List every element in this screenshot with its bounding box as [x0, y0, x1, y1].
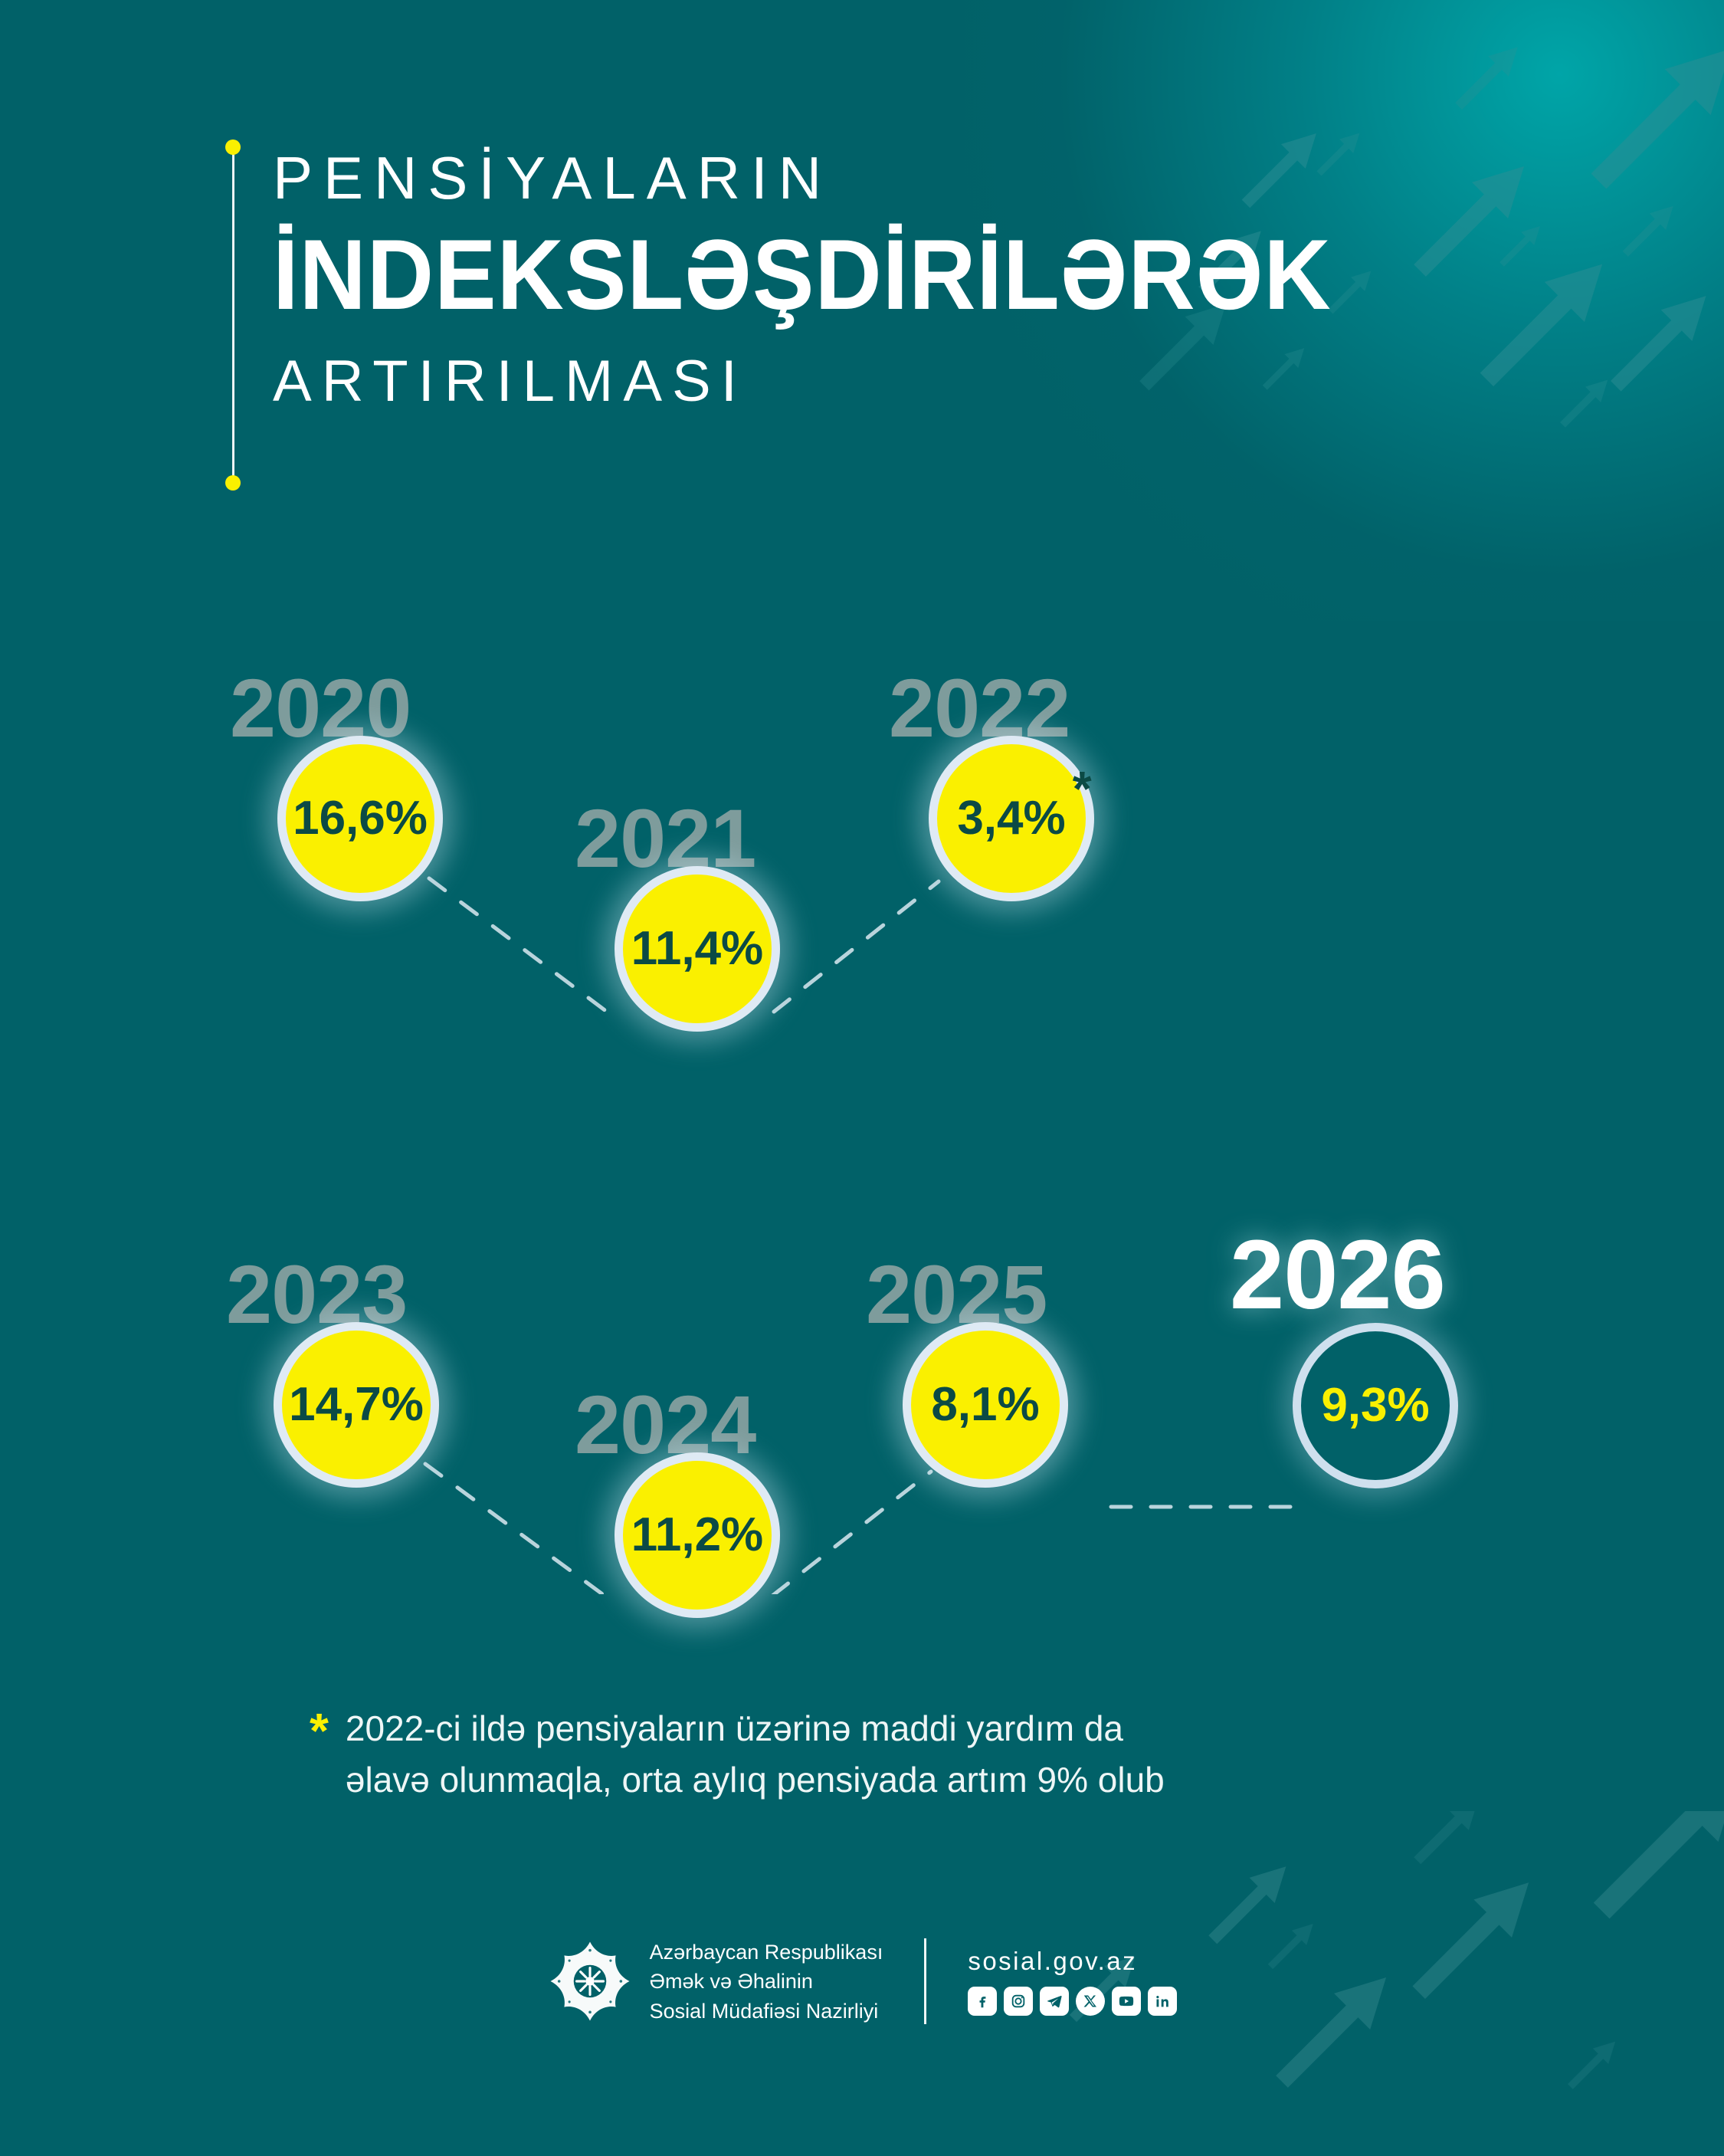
value-text-2022: 3,4% *	[957, 795, 1065, 842]
value-bubble-2022: 3,4% *	[929, 736, 1094, 901]
ministry-block: Azərbaycan Respublikası Əmək və Əhalinin…	[547, 1938, 883, 2026]
value-text-2020: 16,6%	[293, 795, 428, 842]
footnote-text: 2022-ci ildə pensiyaların üzərinə maddi …	[346, 1703, 1165, 1806]
footnote-line-1: 2022-ci ildə pensiyaların üzərinə maddi …	[346, 1703, 1165, 1754]
value-text-2026: 9,3%	[1321, 1382, 1429, 1429]
value-bubble-2021: 11,4%	[615, 866, 780, 1032]
facebook-icon[interactable]	[968, 1987, 997, 2016]
connector-2023-2024	[425, 1464, 613, 1594]
connector-2024-2025	[772, 1472, 931, 1594]
footer-divider	[924, 1938, 926, 2024]
year-label-2026: 2026	[1230, 1226, 1445, 1324]
value-bubble-2023: 14,7%	[274, 1322, 439, 1488]
value-bubble-2024: 11,2%	[615, 1452, 780, 1618]
year-label-2022: 2022	[889, 667, 1070, 750]
title-line-1: PENSİYALARIN	[273, 147, 1411, 210]
telegram-icon[interactable]	[1040, 1987, 1069, 2016]
value-bubble-2020: 16,6%	[277, 736, 443, 901]
accent-line	[232, 143, 234, 487]
ministry-line-2: Əmək və Əhalinin	[650, 1967, 883, 1996]
year-label-2024: 2024	[575, 1383, 755, 1466]
ministry-name: Azərbaycan Respublikası Əmək və Əhalinin…	[650, 1938, 883, 2026]
value-text-2024: 11,2%	[631, 1511, 763, 1559]
node-connectors	[0, 651, 1724, 1594]
value-text-2023: 14,7%	[289, 1381, 424, 1429]
year-label-2020: 2020	[230, 667, 411, 750]
year-label-2023: 2023	[226, 1253, 407, 1336]
contact-block: sosial.gov.az	[968, 1947, 1177, 2016]
value-text-2021: 11,4%	[631, 925, 763, 973]
x-icon[interactable]	[1076, 1987, 1105, 2016]
pension-indexation-chart: 2020 16,6% 2021 11,4% 2022 3,4% * 2023	[0, 651, 1724, 1594]
social-links	[968, 1987, 1177, 2016]
instagram-icon[interactable]	[1004, 1987, 1033, 2016]
page-title: PENSİYALARIN İNDEKSLƏŞDİRİLƏRƏK ARTIRILM…	[230, 143, 1411, 487]
title-line-3: ARTIRILMASI	[273, 351, 1411, 412]
youtube-icon[interactable]	[1112, 1987, 1141, 2016]
infographic-canvas: PENSİYALARIN İNDEKSLƏŞDİRİLƏRƏK ARTIRILM…	[0, 0, 1724, 2156]
value-number-2022: 3,4%	[957, 792, 1065, 845]
ministry-line-3: Sosial Müdafiəsi Nazirliyi	[650, 1997, 883, 2026]
website-link[interactable]: sosial.gov.az	[968, 1947, 1177, 1976]
connector-2021-2022	[774, 881, 939, 1012]
value-text-2025: 8,1%	[931, 1381, 1039, 1429]
title-accent-bar	[230, 143, 236, 487]
accent-dot-top	[225, 139, 241, 155]
value-bubble-2026: 9,3%	[1293, 1323, 1458, 1488]
ministry-star-logo-icon	[547, 1938, 633, 2024]
year-label-2025: 2025	[866, 1253, 1047, 1336]
connector-2020-2021	[429, 878, 613, 1016]
footnote-line-2: əlavə olunmaqla, orta aylıq pensiyada ar…	[346, 1754, 1165, 1806]
footnote: * 2022-ci ildə pensiyaların üzərinə madd…	[310, 1703, 1444, 1806]
title-line-2: İNDEKSLƏŞDİRİLƏRƏK	[273, 222, 1332, 328]
footnote-asterisk-icon: *	[310, 1706, 329, 1806]
year-label-2021: 2021	[575, 797, 755, 880]
footer: Azərbaycan Respublikası Əmək və Əhalinin…	[0, 1938, 1724, 2026]
linkedin-icon[interactable]	[1148, 1987, 1177, 2016]
accent-dot-bottom	[225, 475, 241, 491]
ministry-line-1: Azərbaycan Respublikası	[650, 1938, 883, 1967]
asterisk-icon: *	[1073, 764, 1092, 813]
value-bubble-2025: 8,1%	[903, 1322, 1068, 1488]
